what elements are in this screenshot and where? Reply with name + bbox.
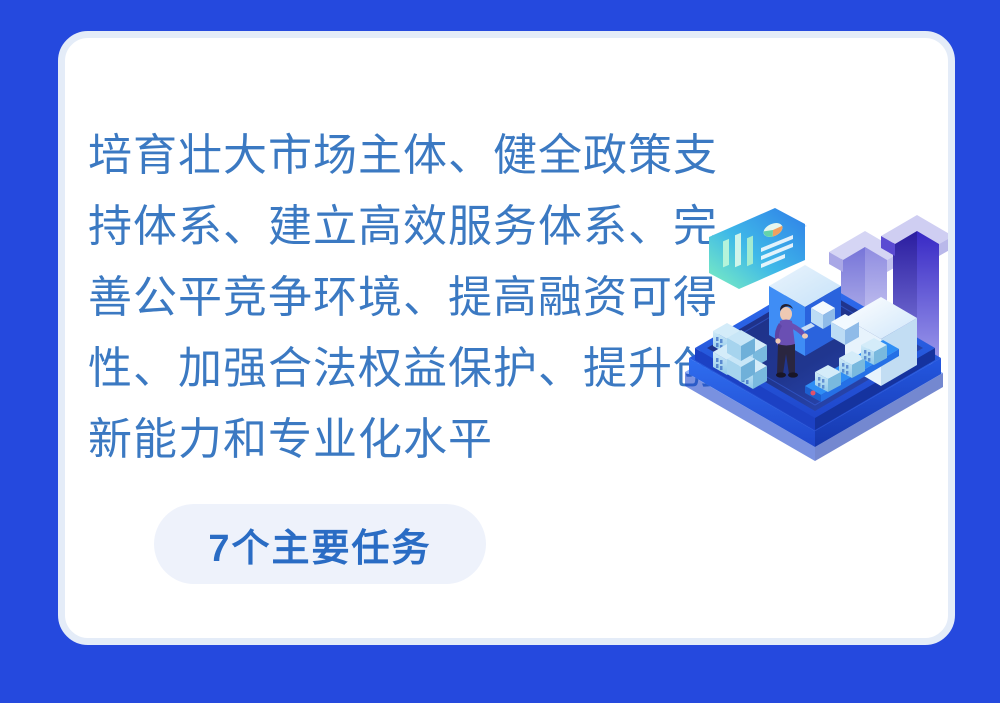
isometric-illustration <box>665 190 955 465</box>
headline-text-block: 培育壮大市场主体、健全政策支 持体系、建立高效服务体系、完 善公平竞争环境、提高… <box>88 120 698 475</box>
poster-canvas: 培育壮大市场主体、健全政策支 持体系、建立高效服务体系、完 善公平竞争环境、提高… <box>0 0 1000 703</box>
headline-line: 持体系、建立高效服务体系、完 <box>88 191 698 262</box>
headline-line: 新能力和专业化水平 <box>88 404 698 475</box>
headline-line: 培育壮大市场主体、健全政策支 <box>88 120 698 191</box>
task-count-badge: 7个主要任务 <box>154 504 486 584</box>
content-card: 培育壮大市场主体、健全政策支 持体系、建立高效服务体系、完 善公平竞争环境、提高… <box>58 31 955 645</box>
headline-line: 性、加强合法权益保护、提升创 <box>88 333 698 404</box>
task-count-badge-label: 7个主要任务 <box>208 517 431 572</box>
headline-line: 善公平竞争环境、提高融资可得 <box>88 262 698 333</box>
isometric-illustration-svg <box>665 190 955 465</box>
